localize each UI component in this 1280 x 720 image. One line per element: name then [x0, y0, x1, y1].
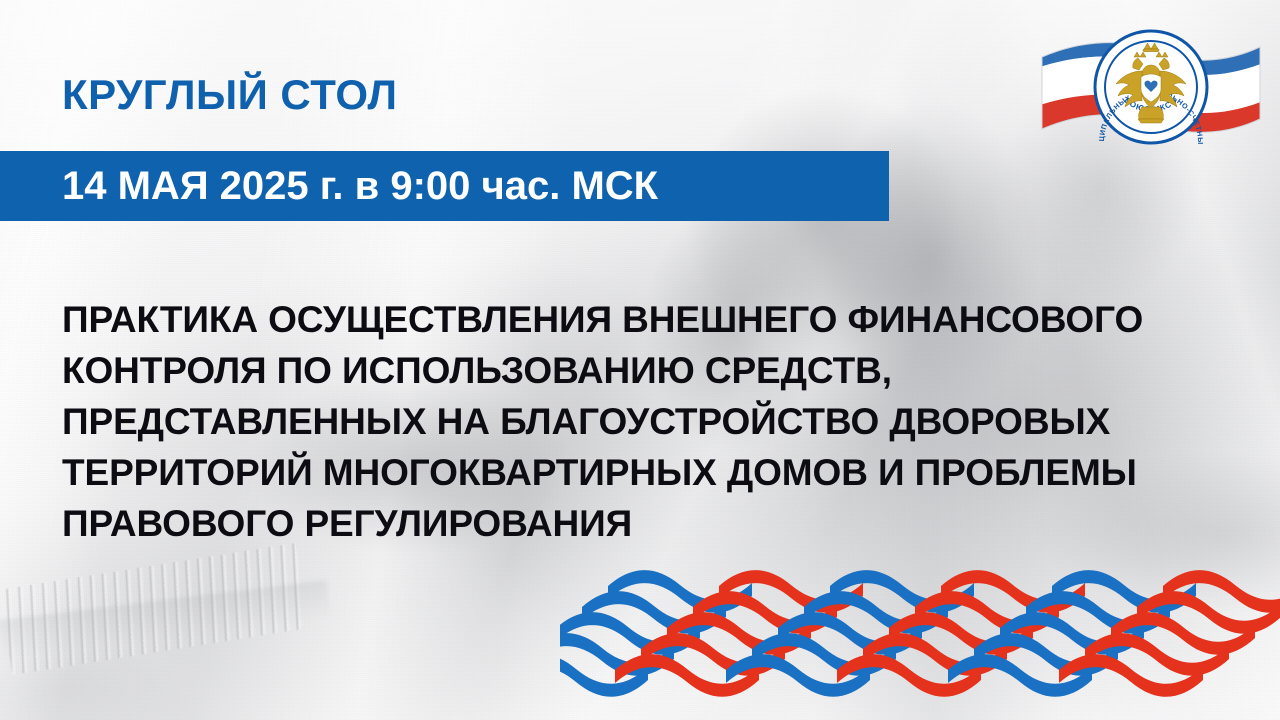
title-line-2: КОНТРОЛЯ ПО ИСПОЛЬЗОВАНИЮ СРЕДСТВ,	[62, 345, 1182, 396]
title-line-3: ПРЕДСТАВЛЕННЫХ НА БЛАГОУСТРОЙСТВО ДВОРОВ…	[62, 396, 1182, 447]
wave-group-blue-3	[726, 570, 974, 697]
wave-group-red-2	[615, 570, 863, 697]
date-banner-text: 14 МАЯ 2025 г. в 9:00 час. МСК	[62, 166, 658, 206]
wave-ribbon-svg	[560, 552, 1280, 720]
wave-group-blue-5	[948, 570, 1196, 697]
wave-group-red-4	[837, 570, 1085, 697]
presentation-slide: КРУГЛЫЙ СТОЛ 14 МАЯ 2025 г. в 9:00 час. …	[0, 0, 1280, 720]
event-type-kicker: КРУГЛЫЙ СТОЛ	[62, 74, 397, 116]
title-line-1: ПРАКТИКА ОСУЩЕСТВЛЕНИЯ ВНЕШНЕГО ФИНАНСОВ…	[62, 294, 1182, 345]
date-banner: 14 МАЯ 2025 г. в 9:00 час. МСК	[0, 151, 889, 221]
soyuz-mkso-emblem: СОЮЗ МУНИЦИПАЛЬНЫХ КОНТРОЛЬНО-СЧЕТНЫХ ОР…	[1034, 25, 1268, 150]
wave-group-red-6	[1059, 570, 1280, 697]
slide-title: ПРАКТИКА ОСУЩЕСТВЛЕНИЯ ВНЕШНЕГО ФИНАНСОВ…	[62, 294, 1182, 549]
emblem-svg: СОЮЗ МУНИЦИПАЛЬНЫХ КОНТРОЛЬНО-СЧЕТНЫХ ОР…	[1034, 25, 1268, 150]
title-line-5: ПРАВОВОГО РЕГУЛИРОВАНИЯ	[62, 498, 1182, 549]
tricolour-wave-ribbon	[560, 552, 1280, 720]
title-line-4: ТЕРРИТОРИЙ МНОГОКВАРТИРНЫХ ДОМОВ И ПРОБЛ…	[62, 447, 1182, 498]
